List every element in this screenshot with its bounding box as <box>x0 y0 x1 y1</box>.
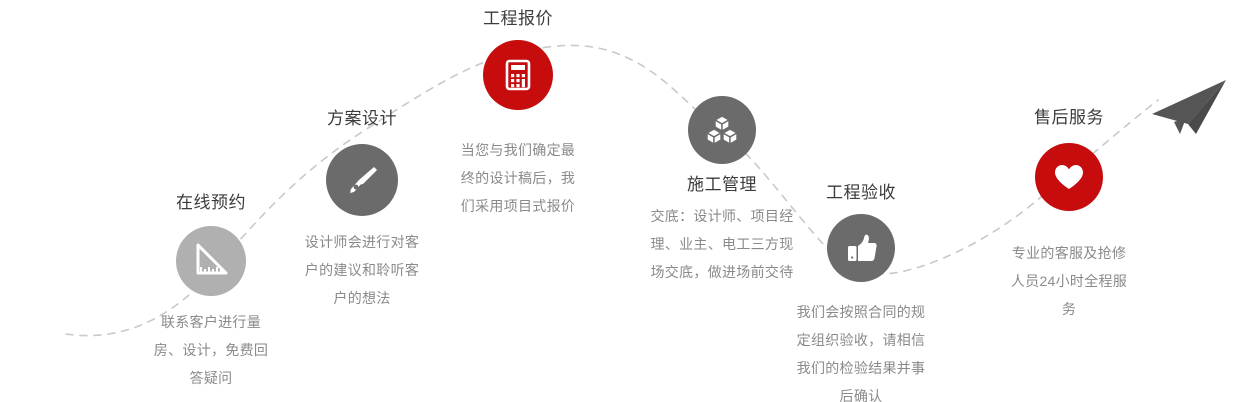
desc-line: 房、设计，免费回 <box>121 336 301 364</box>
step-description: 设计师会进行对客 户的建议和聆听客 户的想法 <box>272 228 452 312</box>
thumbs-up-icon <box>827 214 895 282</box>
ruler-triangle-icon <box>176 226 246 296</box>
step-description: 我们会按照合同的规 定组织验收，请相信 我们的检验结果并事 后确认 <box>771 298 951 402</box>
desc-line: 设计师会进行对客 <box>272 228 452 256</box>
paper-plane-icon <box>1150 78 1234 140</box>
desc-line: 我们会按照合同的规 <box>771 298 951 326</box>
desc-line: 人员24小时全程服 <box>979 267 1159 295</box>
step-after-sales-service[interactable]: 售后服务 专业的客服及抢修 人员24小时全程服 务 <box>979 107 1159 323</box>
process-flow-infographic: 在线预约 联系客户进行量 房、设计，免费回 答疑 <box>0 0 1245 402</box>
desc-line: 户的想法 <box>272 284 452 312</box>
step-icon-wrap <box>612 96 832 164</box>
step-icon-wrap <box>979 143 1159 211</box>
step-project-acceptance[interactable]: 工程验收 我们会按照合同的规 定组织验收，请相信 我们的检验结果并事 后确认 <box>771 182 951 402</box>
desc-line: 专业的客服及抢修 <box>979 239 1159 267</box>
calculator-icon <box>483 40 553 110</box>
desc-line: 联系客户进行量 <box>121 308 301 336</box>
desc-line: 终的设计稿后，我 <box>428 164 608 192</box>
step-icon-wrap <box>771 214 951 282</box>
desc-line: 答疑问 <box>121 364 301 392</box>
desc-line: 户的建议和聆听客 <box>272 256 452 284</box>
step-description: 当您与我们确定最 终的设计稿后，我 们采用项目式报价 <box>428 136 608 220</box>
step-project-quotation[interactable]: 工程报价 <box>428 8 608 220</box>
desc-line: 我们的检验结果并事 <box>771 354 951 382</box>
step-title: 工程报价 <box>428 8 608 30</box>
step-title: 方案设计 <box>272 108 452 130</box>
step-icon-wrap <box>272 144 452 216</box>
step-scheme-design[interactable]: 方案设计 设计师会进行对客 户的建议和聆听客 户的想法 <box>272 108 452 312</box>
step-description: 专业的客服及抢修 人员24小时全程服 务 <box>979 239 1159 323</box>
heart-icon <box>1035 143 1103 211</box>
step-title: 售后服务 <box>979 107 1159 129</box>
desc-line: 务 <box>979 295 1159 323</box>
desc-line: 当您与我们确定最 <box>428 136 608 164</box>
desc-line: 定组织验收，请相信 <box>771 326 951 354</box>
desc-line: 后确认 <box>771 382 951 402</box>
desc-line: 们采用项目式报价 <box>428 192 608 220</box>
step-icon-wrap <box>428 40 608 110</box>
pen-nib-icon <box>326 144 398 216</box>
boxes-icon <box>688 96 756 164</box>
step-description: 联系客户进行量 房、设计，免费回 答疑问 <box>121 308 301 392</box>
step-title: 工程验收 <box>771 182 951 204</box>
